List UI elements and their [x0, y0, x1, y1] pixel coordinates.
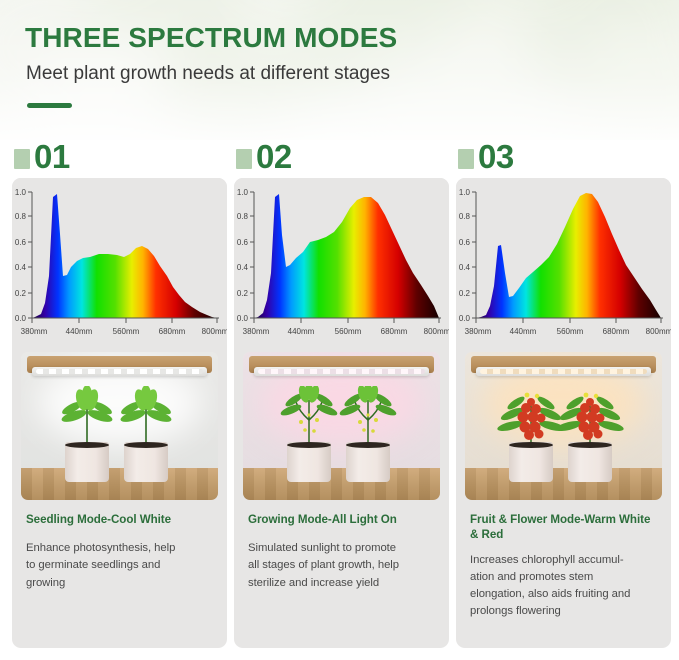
mode-number-03: 03	[458, 140, 514, 173]
svg-text:440mm: 440mm	[510, 327, 537, 336]
caption-body: Enhance photosynthesis, help to germinat…	[26, 540, 213, 591]
page-title: THREE SPECTRUM MODES	[25, 22, 397, 54]
led-strip	[480, 369, 647, 374]
mode-number-row: 01 02 03	[0, 140, 679, 178]
svg-text:0.4: 0.4	[459, 263, 471, 272]
svg-text:680mm: 680mm	[381, 327, 408, 336]
plant-pot	[124, 442, 168, 482]
svg-text:680mm: 680mm	[603, 327, 630, 336]
plant-pot	[346, 442, 390, 482]
svg-text:560mm: 560mm	[335, 327, 362, 336]
caption-body: Simulated sunlight to promote all stages…	[248, 540, 435, 591]
svg-text:380mm: 380mm	[243, 327, 270, 336]
wood-table	[465, 468, 662, 500]
svg-text:1.0: 1.0	[459, 188, 471, 197]
spectrum-chart-svg: 0.00.20.4 0.60.81.0 380mm440mm560mm 680m…	[12, 178, 227, 348]
square-badge-icon	[236, 149, 252, 169]
tomato-plant-right	[555, 386, 625, 448]
mode-caption-2: Growing Mode-All Light On Simulated sunl…	[234, 500, 449, 592]
caption-title: Growing Mode-All Light On	[248, 512, 435, 527]
svg-text:560mm: 560mm	[557, 327, 584, 336]
plant-pot	[65, 442, 109, 482]
mode-number-label: 01	[34, 140, 70, 173]
spectrum-chart-2: 0.00.20.4 0.60.81.0 380mm440mm560mm 680m…	[234, 178, 449, 348]
svg-text:1.0: 1.0	[15, 188, 27, 197]
accent-underline	[27, 103, 72, 108]
svg-text:0.2: 0.2	[237, 289, 249, 298]
mode-card: 0.00.20.4 0.60.81.0 380mm440mm560mm 680m…	[234, 178, 449, 648]
mode-card: 0.00.20.4 0.60.81.0 380mm440mm560mm 680m…	[12, 178, 227, 648]
svg-text:0.2: 0.2	[15, 289, 27, 298]
mode-photo-1	[21, 352, 218, 500]
svg-text:0.8: 0.8	[459, 212, 471, 221]
plant-right	[333, 386, 403, 448]
svg-text:0.4: 0.4	[237, 263, 249, 272]
svg-text:680mm: 680mm	[159, 327, 186, 336]
mode-number-label: 03	[478, 140, 514, 173]
led-strip	[36, 369, 203, 374]
square-badge-icon	[14, 149, 30, 169]
svg-text:0.2: 0.2	[459, 289, 471, 298]
svg-text:800mm: 800mm	[424, 327, 449, 336]
spectrum-chart-3: 0.00.20.4 0.60.81.0 380mm440mm560mm 680m…	[456, 178, 671, 348]
svg-text:380mm: 380mm	[465, 327, 492, 336]
svg-text:0.4: 0.4	[15, 263, 27, 272]
svg-text:440mm: 440mm	[288, 327, 315, 336]
plant-pot	[509, 442, 553, 482]
spectrum-chart-svg: 0.00.20.4 0.60.81.0 380mm440mm560mm 680m…	[456, 178, 671, 348]
mode-card-list: 0.00.20.4 0.60.81.0 380mm440mm560mm 680m…	[0, 178, 679, 648]
svg-text:0.6: 0.6	[15, 238, 27, 247]
svg-text:560mm: 560mm	[113, 327, 140, 336]
svg-text:0.6: 0.6	[459, 238, 471, 247]
svg-text:800mm: 800mm	[202, 327, 227, 336]
svg-text:0.8: 0.8	[237, 212, 249, 221]
mode-caption-1: Seedling Mode-Cool White Enhance photosy…	[12, 500, 227, 592]
svg-text:1.0: 1.0	[237, 188, 249, 197]
mode-number-label: 02	[256, 140, 292, 173]
spectrum-chart-svg: 0.00.20.4 0.60.81.0 380mm440mm560mm 680m…	[234, 178, 449, 348]
square-badge-icon	[458, 149, 474, 169]
svg-text:440mm: 440mm	[66, 327, 93, 336]
plant-pot	[287, 442, 331, 482]
wood-table	[21, 468, 218, 500]
svg-text:0.0: 0.0	[237, 314, 249, 323]
svg-text:800mm: 800mm	[646, 327, 671, 336]
svg-text:0.0: 0.0	[15, 314, 27, 323]
caption-body: Increases chlorophyll accumul- ation and…	[470, 552, 657, 621]
mode-caption-3: Fruit & Flower Mode-Warm White & Red Inc…	[456, 500, 671, 620]
svg-text:0.6: 0.6	[237, 238, 249, 247]
plant-pot	[568, 442, 612, 482]
spectrum-modes-page: THREE SPECTRUM MODES Meet plant growth n…	[0, 0, 679, 660]
spectrum-chart-1: 0.00.20.4 0.60.81.0 380mm440mm560mm 680m…	[12, 178, 227, 348]
svg-text:0.0: 0.0	[459, 314, 471, 323]
mode-number-02: 02	[236, 140, 292, 173]
caption-title: Fruit & Flower Mode-Warm White & Red	[470, 512, 657, 543]
svg-text:380mm: 380mm	[21, 327, 48, 336]
mode-number-01: 01	[14, 140, 70, 173]
caption-title: Seedling Mode-Cool White	[26, 512, 213, 527]
mode-card: 0.00.20.4 0.60.81.0 380mm440mm560mm 680m…	[456, 178, 671, 648]
led-strip	[258, 369, 425, 374]
page-header: THREE SPECTRUM MODES Meet plant growth n…	[0, 0, 679, 140]
page-subtitle: Meet plant growth needs at different sta…	[26, 63, 390, 85]
mode-photo-2	[243, 352, 440, 500]
wood-table	[243, 468, 440, 500]
plant-right	[111, 386, 181, 448]
svg-text:0.8: 0.8	[15, 212, 27, 221]
mode-photo-3	[465, 352, 662, 500]
